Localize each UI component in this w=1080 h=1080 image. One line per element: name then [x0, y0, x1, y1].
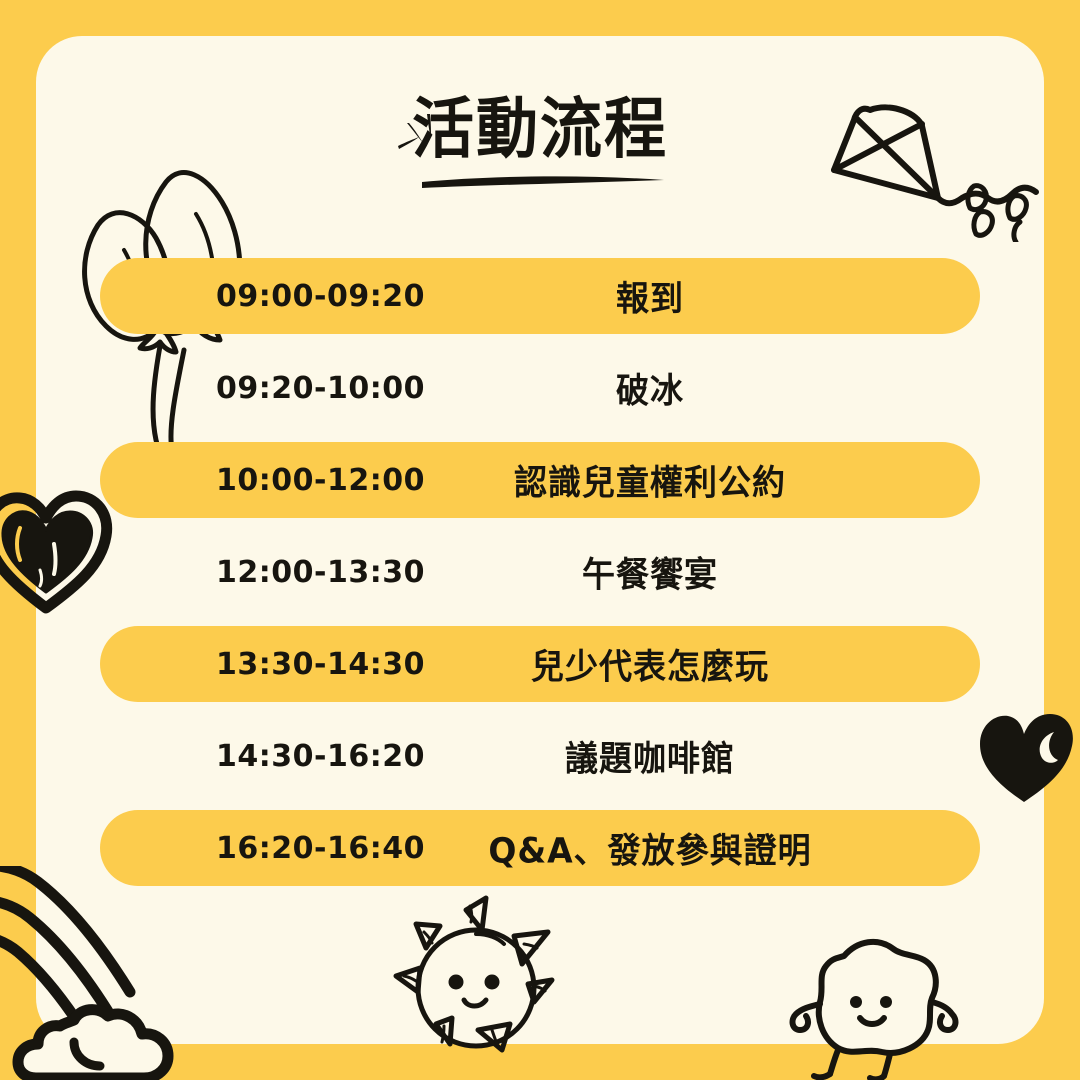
row-title: 兒少代表怎麼玩 [430, 639, 980, 689]
row-title: 議題咖啡館 [430, 731, 980, 781]
blob-character-icon [782, 928, 982, 1080]
table-row: 09:20-10:00 破冰 [100, 350, 980, 426]
row-time: 13:30-14:30 [100, 647, 430, 682]
row-time: 10:00-12:00 [100, 463, 430, 498]
schedule-list: 09:00-09:20 報到 09:20-10:00 破冰 10:00-12:0… [100, 258, 980, 902]
table-row: 09:00-09:20 報到 [100, 258, 980, 334]
row-time: 09:20-10:00 [100, 371, 430, 406]
title-underline-icon [418, 166, 668, 194]
table-row: 16:20-16:40 Q&A、發放參與證明 [100, 810, 980, 886]
row-time: 14:30-16:20 [100, 739, 430, 774]
heart-filled-icon [964, 702, 1080, 812]
title-block: 活動流程 [0, 96, 1080, 161]
table-row: 10:00-12:00 認識兒童權利公約 [100, 442, 980, 518]
row-time: 12:00-13:30 [100, 555, 430, 590]
table-row: 13:30-14:30 兒少代表怎麼玩 [100, 626, 980, 702]
sun-face-icon [382, 892, 572, 1080]
row-time: 16:20-16:40 [100, 831, 430, 866]
row-title: 認識兒童權利公約 [430, 455, 980, 505]
table-row: 14:30-16:20 議題咖啡館 [100, 718, 980, 794]
heart-outline-icon [0, 466, 114, 616]
row-title: 報到 [430, 271, 980, 321]
row-title: 破冰 [430, 363, 980, 413]
row-title: 午餐饗宴 [430, 547, 980, 597]
event-schedule-poster: 活動流程 09:00-09:20 報到 09:20-10:00 破冰 10:00… [0, 0, 1080, 1080]
row-time: 09:00-09:20 [100, 279, 430, 314]
table-row: 12:00-13:30 午餐饗宴 [100, 534, 980, 610]
row-title: Q&A、發放參與證明 [430, 823, 980, 873]
rainbow-cloud-icon [0, 866, 204, 1080]
